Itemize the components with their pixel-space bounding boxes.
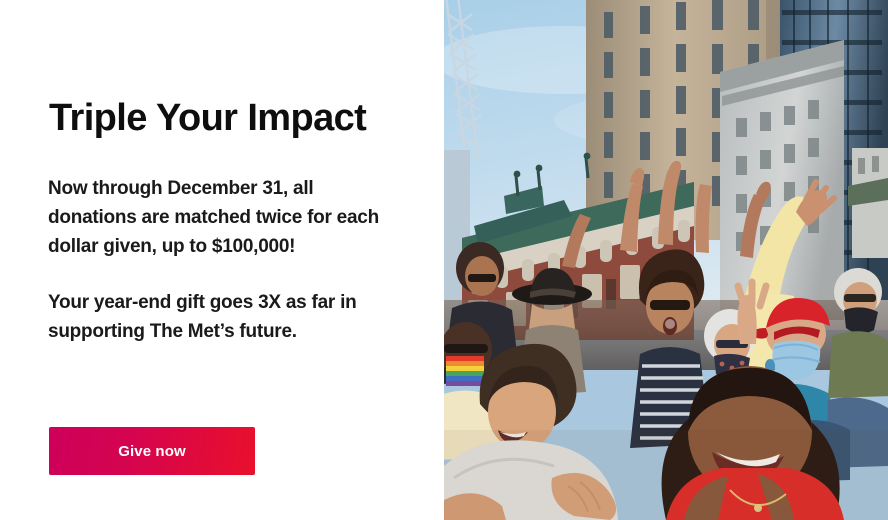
give-now-button[interactable]: Give now [49, 427, 255, 475]
body-paragraph-match-details: Now through December 31, all donations a… [48, 174, 388, 261]
promo-banner: Triple Your Impact Now through December … [0, 0, 888, 520]
body-copy: Now through December 31, all donations a… [48, 174, 388, 346]
content-pane: Triple Your Impact Now through December … [0, 0, 444, 520]
crowd-photo-pane [444, 0, 888, 520]
crowd-photo [444, 0, 888, 520]
body-paragraph-impact-statement: Your year-end gift goes 3X as far in sup… [48, 288, 388, 346]
page-title: Triple Your Impact [49, 96, 366, 140]
